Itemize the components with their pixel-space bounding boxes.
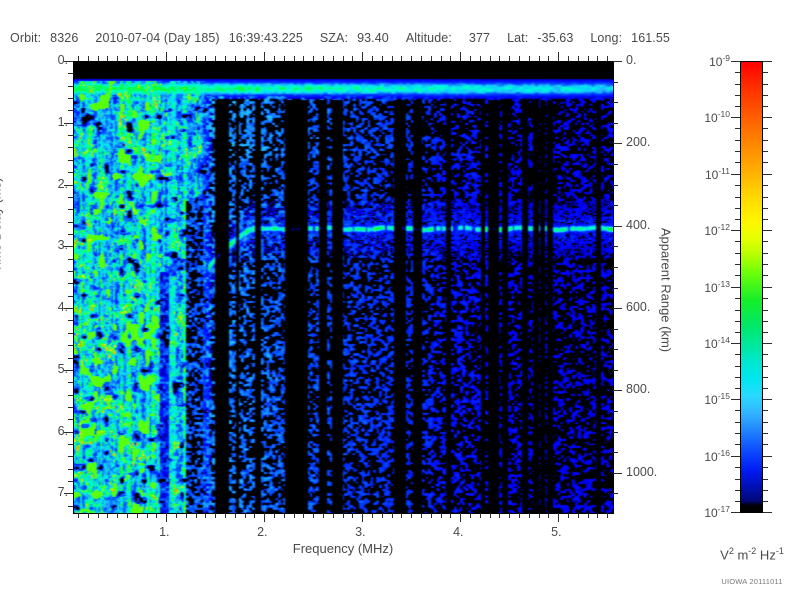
plot-header: Orbit:83262010-07-04 (Day 185)16:39:43.2… [0, 31, 680, 45]
y-tick-left [68, 444, 73, 445]
sza-value: 93.40 [357, 31, 389, 45]
y-tick-right [613, 246, 618, 247]
colorbar-minor-tick [763, 95, 768, 96]
x-tick-bottom [519, 513, 520, 518]
x-tick-top [539, 56, 540, 61]
colorbar-tick-left [731, 287, 740, 288]
y-tick-label-left: 6. [52, 424, 68, 438]
y-tick-left [68, 469, 73, 470]
x-tick-bottom [362, 513, 363, 522]
unit-m-exp: -2 [748, 546, 756, 556]
colorbar-minor-tick [763, 72, 768, 73]
x-tick-bottom [421, 513, 422, 518]
y-tick-label-right: 600. [626, 300, 650, 314]
colorbar-minor-tick [735, 354, 740, 355]
y-axis-left-title: Time Delay (ms) [0, 178, 4, 273]
colorbar-minor-tick [763, 185, 768, 186]
colorbar-minor-tick [763, 377, 768, 378]
colorbar-minor-tick [735, 310, 740, 311]
colorbar-minor-tick [735, 377, 740, 378]
x-tick-top [529, 56, 530, 61]
colorbar-tick-right [763, 174, 772, 175]
x-tick-top [264, 52, 265, 61]
colorbar-tick-label: 10-9 [682, 53, 730, 69]
y-tick-right [613, 288, 618, 289]
x-tick-label: 5. [551, 525, 561, 539]
x-tick-bottom [548, 513, 549, 518]
credit-text: UIOWA 20111011 [721, 577, 782, 586]
colorbar-tick-label: 10-13 [682, 279, 730, 295]
x-tick-bottom [441, 513, 442, 518]
y-tick-right [613, 123, 618, 124]
colorbar-minor-tick [763, 128, 768, 129]
colorbar-minor-tick [735, 84, 740, 85]
x-tick-top [519, 56, 520, 61]
orbit-value: 8326 [50, 31, 78, 45]
y-tick-left [68, 481, 73, 482]
x-tick-bottom [558, 513, 559, 522]
y-tick-right [613, 329, 618, 330]
colorbar-tick-left [731, 456, 740, 457]
y-tick-right [613, 370, 618, 371]
long-label: Long: [590, 31, 622, 45]
x-tick-top [343, 56, 344, 61]
x-tick-top [196, 56, 197, 61]
colorbar-minor-tick [763, 366, 768, 367]
y-tick-right [613, 432, 618, 433]
sza-label: SZA: [320, 31, 348, 45]
x-tick-top [411, 56, 412, 61]
x-tick-bottom [607, 513, 608, 518]
x-tick-top [548, 56, 549, 61]
colorbar-minor-tick [735, 501, 740, 502]
y-tick-label-right: 400. [626, 218, 650, 232]
colorbar-tick-right [763, 230, 772, 231]
x-tick-top [352, 56, 353, 61]
colorbar-minor-tick [763, 84, 768, 85]
x-tick-top [499, 56, 500, 61]
y-tick-left [68, 271, 73, 272]
x-tick-bottom [78, 513, 79, 518]
x-axis-title: Frequency (MHz) [293, 541, 393, 556]
y-tick-label-left: 0. [52, 53, 68, 67]
x-tick-top [225, 56, 226, 61]
x-tick-bottom [107, 513, 108, 518]
long-value: 161.55 [631, 31, 670, 45]
x-tick-bottom [323, 513, 324, 518]
colorbar-minor-tick [763, 140, 768, 141]
x-tick-top [137, 56, 138, 61]
colorbar-minor-tick [735, 479, 740, 480]
x-tick-top [294, 56, 295, 61]
colorbar-minor-tick [735, 275, 740, 276]
colorbar-minor-tick [763, 219, 768, 220]
y-tick-right [613, 411, 618, 412]
colorbar-minor-tick [735, 106, 740, 107]
x-tick-label: 1. [159, 525, 169, 539]
y-tick-left [68, 345, 73, 346]
x-tick-top [362, 52, 363, 61]
colorbar-minor-tick [763, 197, 768, 198]
y-tick-right [613, 143, 622, 144]
colorbar-unit-label: V2 m-2 Hz-1 [720, 546, 784, 562]
x-tick-bottom [294, 513, 295, 518]
x-tick-bottom [597, 513, 598, 518]
x-tick-top [98, 56, 99, 61]
colorbar-minor-tick [763, 106, 768, 107]
colorbar-minor-tick [735, 422, 740, 423]
x-tick-bottom [431, 513, 432, 518]
x-tick-top [450, 56, 451, 61]
colorbar-minor-tick [763, 410, 768, 411]
x-tick-bottom [98, 513, 99, 518]
colorbar-minor-tick [763, 264, 768, 265]
colorbar-minor-tick [763, 433, 768, 434]
y-axis-right-title: Apparent Range (km) [659, 228, 674, 352]
y-tick-right [613, 267, 618, 268]
x-tick-bottom [254, 513, 255, 518]
y-tick-right [613, 473, 622, 474]
x-tick-label: 2. [257, 525, 267, 539]
y-tick-label-right: 800. [626, 382, 650, 396]
colorbar-tick-label: 10-14 [682, 335, 730, 351]
x-tick-bottom [284, 513, 285, 518]
unit-hz: Hz [756, 547, 776, 562]
x-tick-top [607, 56, 608, 61]
y-tick-right [613, 452, 618, 453]
x-tick-bottom [460, 513, 461, 522]
x-tick-label: 4. [453, 525, 463, 539]
x-tick-bottom [411, 513, 412, 518]
y-tick-left [68, 506, 73, 507]
x-tick-top [186, 56, 187, 61]
x-tick-bottom [499, 513, 500, 518]
altitude-label: Altitude: [406, 31, 452, 45]
x-tick-bottom [529, 513, 530, 518]
colorbar-tick-label: 10-16 [682, 448, 730, 464]
x-tick-top [176, 56, 177, 61]
colorbar-tick-label: 10-15 [682, 391, 730, 407]
colorbar-tick-left [731, 343, 740, 344]
x-tick-bottom [117, 513, 118, 518]
x-tick-top [235, 56, 236, 61]
colorbar-minor-tick [763, 310, 768, 311]
colorbar-tick-right [763, 343, 772, 344]
colorbar-tick-right [763, 287, 772, 288]
y-tick-right [613, 493, 618, 494]
x-tick-top [372, 56, 373, 61]
y-tick-label-left: 2. [52, 177, 68, 191]
y-tick-left [68, 358, 73, 359]
x-tick-bottom [264, 513, 265, 522]
colorbar-minor-tick [763, 490, 768, 491]
y-tick-right [613, 226, 622, 227]
x-tick-top [323, 56, 324, 61]
colorbar-minor-tick [763, 388, 768, 389]
colorbar-tick-right [763, 117, 772, 118]
x-tick-bottom [88, 513, 89, 518]
colorbar-tick-left [731, 61, 740, 62]
x-tick-top [588, 56, 589, 61]
x-tick-bottom [401, 513, 402, 518]
colorbar-minor-tick [735, 433, 740, 434]
colorbar-minor-tick [763, 275, 768, 276]
y-tick-left [68, 209, 73, 210]
y-tick-left [68, 382, 73, 383]
colorbar-minor-tick [763, 332, 768, 333]
x-tick-top [205, 56, 206, 61]
y-tick-label-left: 7. [52, 485, 68, 499]
y-tick-right [613, 308, 622, 309]
x-tick-top [156, 56, 157, 61]
x-tick-top [127, 56, 128, 61]
y-tick-left [68, 160, 73, 161]
colorbar-minor-tick [763, 208, 768, 209]
colorbar-minor-tick [763, 151, 768, 152]
x-tick-top [245, 56, 246, 61]
x-tick-label: 3. [355, 525, 365, 539]
x-tick-top [313, 56, 314, 61]
x-tick-bottom [480, 513, 481, 518]
colorbar-minor-tick [763, 501, 768, 502]
x-tick-bottom [372, 513, 373, 518]
y-tick-left [68, 283, 73, 284]
x-tick-bottom [578, 513, 579, 518]
x-tick-top [333, 56, 334, 61]
colorbar-minor-tick [735, 366, 740, 367]
x-tick-bottom [490, 513, 491, 518]
colorbar-minor-tick [735, 128, 740, 129]
colorbar-minor-tick [735, 410, 740, 411]
observation-date: 2010-07-04 (Day 185) [95, 31, 219, 45]
colorbar-tick-label: 10-11 [682, 166, 730, 182]
x-tick-top [117, 56, 118, 61]
x-tick-top [568, 56, 569, 61]
colorbar-minor-tick [763, 253, 768, 254]
colorbar-tick-right [763, 399, 772, 400]
x-tick-bottom [156, 513, 157, 518]
x-tick-bottom [245, 513, 246, 518]
y-tick-label-left: 1. [52, 115, 68, 129]
y-tick-left [68, 86, 73, 87]
x-tick-top [421, 56, 422, 61]
x-tick-bottom [215, 513, 216, 518]
x-tick-bottom [166, 513, 167, 522]
y-tick-right [613, 61, 622, 62]
x-tick-bottom [274, 513, 275, 518]
x-tick-top [215, 56, 216, 61]
spectrogram-canvas [74, 62, 613, 513]
y-tick-left [68, 98, 73, 99]
x-tick-bottom [333, 513, 334, 518]
x-tick-bottom [539, 513, 540, 518]
x-tick-bottom [127, 513, 128, 518]
y-tick-left [68, 172, 73, 173]
colorbar-tick-right [763, 61, 772, 62]
x-tick-bottom [313, 513, 314, 518]
colorbar-tick-left [731, 230, 740, 231]
y-tick-label-left: 3. [52, 238, 68, 252]
colorbar-tick-left [731, 399, 740, 400]
x-tick-bottom [450, 513, 451, 518]
x-tick-bottom [137, 513, 138, 518]
y-tick-left [68, 222, 73, 223]
x-tick-top [431, 56, 432, 61]
colorbar-minor-tick [735, 332, 740, 333]
y-tick-left [68, 110, 73, 111]
y-tick-right [613, 185, 618, 186]
colorbar-minor-tick [763, 241, 768, 242]
x-tick-bottom [205, 513, 206, 518]
x-tick-bottom [147, 513, 148, 518]
y-tick-left [68, 135, 73, 136]
colorbar-minor-tick [735, 208, 740, 209]
colorbar-minor-tick [735, 490, 740, 491]
x-tick-top [254, 56, 255, 61]
colorbar-minor-tick [735, 197, 740, 198]
colorbar-minor-tick [735, 72, 740, 73]
x-tick-top [490, 56, 491, 61]
x-tick-bottom [186, 513, 187, 518]
y-tick-label-left: 4. [52, 300, 68, 314]
colorbar-minor-tick [763, 162, 768, 163]
colorbar-minor-tick [763, 354, 768, 355]
colorbar-minor-tick [735, 264, 740, 265]
colorbar-minor-tick [763, 444, 768, 445]
y-tick-left [68, 296, 73, 297]
x-tick-top [382, 56, 383, 61]
x-tick-bottom [352, 513, 353, 518]
x-tick-top [558, 52, 559, 61]
ionogram-spectrogram [73, 61, 614, 514]
colorbar-minor-tick [735, 298, 740, 299]
y-tick-label-right: 1000. [626, 465, 657, 479]
x-tick-top [166, 52, 167, 61]
unit-v: V [720, 547, 729, 562]
x-tick-top [509, 56, 510, 61]
colorbar-minor-tick [735, 467, 740, 468]
y-tick-left [68, 395, 73, 396]
colorbar-tick-label: 10-10 [682, 109, 730, 125]
x-tick-bottom [392, 513, 393, 518]
x-tick-bottom [225, 513, 226, 518]
colorbar-minor-tick [735, 388, 740, 389]
colorbar-minor-tick [763, 422, 768, 423]
x-tick-bottom [382, 513, 383, 518]
colorbar-tick-left [731, 117, 740, 118]
x-tick-bottom [196, 513, 197, 518]
colorbar-minor-tick [735, 162, 740, 163]
y-tick-right [613, 82, 618, 83]
x-tick-top [78, 56, 79, 61]
x-tick-bottom [470, 513, 471, 518]
orbit-label: Orbit: [10, 31, 41, 45]
y-tick-label-left: 5. [52, 362, 68, 376]
y-tick-right [613, 205, 618, 206]
x-tick-top [460, 52, 461, 61]
x-tick-top [107, 56, 108, 61]
observation-time: 16:39:43.225 [229, 31, 303, 45]
y-tick-right [613, 102, 618, 103]
y-tick-left [68, 234, 73, 235]
x-tick-top [303, 56, 304, 61]
colorbar-minor-tick [763, 479, 768, 480]
x-tick-top [597, 56, 598, 61]
y-tick-right [613, 164, 618, 165]
x-tick-bottom [343, 513, 344, 518]
colorbar-minor-tick [735, 151, 740, 152]
colorbar-minor-tick [735, 253, 740, 254]
colorbar-minor-tick [735, 185, 740, 186]
x-tick-top [284, 56, 285, 61]
colorbar-minor-tick [763, 467, 768, 468]
x-tick-bottom [509, 513, 510, 518]
x-tick-top [401, 56, 402, 61]
x-tick-top [88, 56, 89, 61]
x-tick-bottom [568, 513, 569, 518]
colorbar-tick-left [731, 512, 740, 513]
colorbar-minor-tick [735, 219, 740, 220]
unit-hz-exp: -1 [776, 546, 784, 556]
y-tick-left [68, 259, 73, 260]
y-tick-label-right: 0. [626, 53, 636, 67]
colorbar-minor-tick [735, 321, 740, 322]
x-tick-bottom [303, 513, 304, 518]
y-tick-right [613, 390, 622, 391]
x-tick-top [480, 56, 481, 61]
y-tick-left [68, 407, 73, 408]
x-tick-top [147, 56, 148, 61]
colorbar-tick-right [763, 456, 772, 457]
y-tick-left [68, 333, 73, 334]
colorbar-tick-left [731, 174, 740, 175]
colorbar-tick-label: 10-17 [682, 504, 730, 520]
y-tick-left [68, 147, 73, 148]
lat-label: Lat: [507, 31, 528, 45]
y-tick-right [613, 349, 618, 350]
lat-value: -35.63 [537, 31, 573, 45]
colorbar-minor-tick [735, 140, 740, 141]
y-tick-left [68, 73, 73, 74]
y-tick-left [68, 419, 73, 420]
x-tick-top [578, 56, 579, 61]
colorbar-minor-tick [763, 321, 768, 322]
colorbar [740, 61, 763, 513]
x-tick-bottom [176, 513, 177, 518]
x-tick-bottom [235, 513, 236, 518]
x-tick-bottom [588, 513, 589, 518]
colorbar-tick-right [763, 512, 772, 513]
unit-m: m [734, 547, 748, 562]
colorbar-minor-tick [763, 298, 768, 299]
x-tick-top [274, 56, 275, 61]
colorbar-minor-tick [735, 95, 740, 96]
x-tick-top [470, 56, 471, 61]
x-tick-top [392, 56, 393, 61]
x-tick-top [441, 56, 442, 61]
colorbar-tick-label: 10-12 [682, 222, 730, 238]
y-tick-left [68, 320, 73, 321]
y-tick-left [68, 456, 73, 457]
colorbar-minor-tick [735, 444, 740, 445]
y-tick-left [68, 197, 73, 198]
altitude-value: 377 [469, 31, 490, 45]
colorbar-minor-tick [735, 241, 740, 242]
y-tick-label-right: 200. [626, 135, 650, 149]
